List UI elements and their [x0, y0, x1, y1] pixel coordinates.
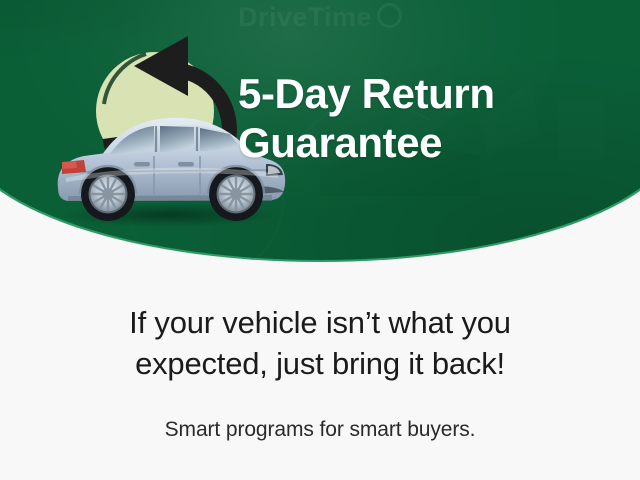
hero-banner: DriveTime: [0, 0, 640, 260]
headline-line-1: 5-Day Return: [238, 70, 568, 119]
promo-banner-card: DriveTime: [0, 0, 640, 480]
circle-dot-icon: [377, 3, 402, 28]
tagline: Smart programs for smart buyers.: [50, 416, 590, 443]
body-copy-line-1: If your vehicle isn’t what you: [50, 303, 590, 344]
body-copy: If your vehicle isn’t what you expected,…: [50, 303, 590, 385]
watermark-wordmark: DriveTime: [0, 2, 640, 33]
headline-line-2: Guarantee: [238, 119, 568, 168]
body-copy-line-2: expected, just bring it back!: [50, 344, 590, 385]
page-title: 5-Day Return Guarantee: [238, 70, 568, 167]
watermark-text: DriveTime: [238, 2, 372, 32]
